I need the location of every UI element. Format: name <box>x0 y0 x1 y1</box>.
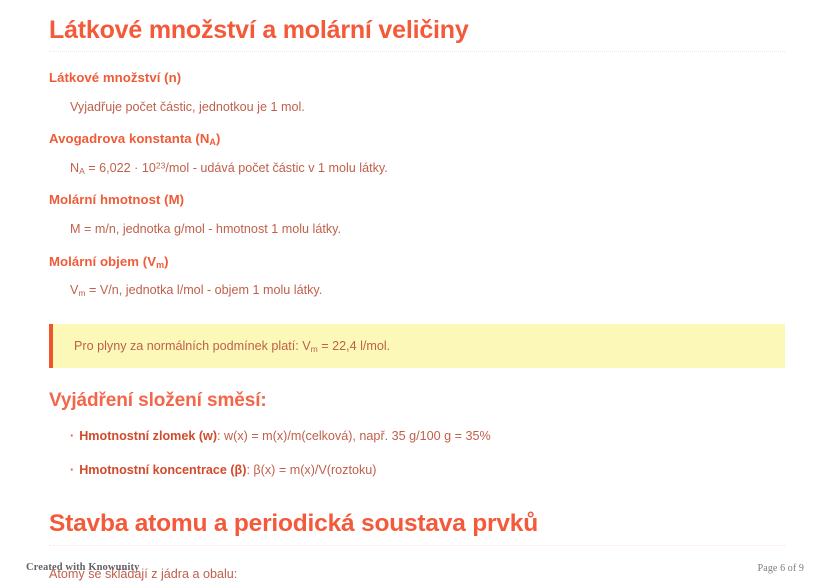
document-content: Látkové množství a molární veličiny Látk… <box>49 16 788 582</box>
spacer <box>49 208 788 221</box>
callout-text-pre: Pro plyny za normálních podmínek platí: … <box>74 339 311 353</box>
subsection-heading-avogadrova-konstanta: Avogadrova konstanta (NA) <box>49 131 788 147</box>
bullet-list: ·Hmotnostní zlomek (w): w(x) = m(x)/m(ce… <box>49 428 788 479</box>
list-item: ·Hmotnostní zlomek (w): w(x) = m(x)/m(ce… <box>49 428 788 444</box>
subsection-body-latkove-mnozstvi: Vyjadřuje počet částic, jednotkou je 1 m… <box>49 99 788 115</box>
subsection-heading-subscript: m <box>156 260 164 270</box>
callout-subscript: m <box>311 344 318 354</box>
subsection-heading-paren-close: ) <box>216 131 220 146</box>
subsection-heading-paren: (N <box>192 131 210 146</box>
spacer <box>49 238 788 254</box>
subheading-vyjadreni-slozeni: Vyjádření složení směsí: <box>49 390 788 412</box>
bullet-dot-icon: · <box>70 463 74 477</box>
subsection-body-molarni-objem: Vm = V/n, jednotka l/mol - objem 1 molu … <box>49 282 788 298</box>
bullet-label: Hmotnostní koncentrace (β) <box>79 463 246 477</box>
spacer <box>49 86 788 99</box>
footer-page-number: Page 6 of 9 <box>758 563 804 574</box>
subsection-heading-molarni-objem: Molární objem (Vm) <box>49 254 788 270</box>
subsection-heading-molarni-hmotnost: Molární hmotnost (M) <box>49 192 788 208</box>
spacer <box>49 52 788 70</box>
spacer <box>49 147 788 160</box>
bullet-text: : w(x) = m(x)/m(celková), např. 35 g/100… <box>217 429 491 443</box>
callout-box: Pro plyny za normálních podmínek platí: … <box>49 324 785 368</box>
subsection-heading-paren: (V <box>139 254 156 269</box>
subsection-heading-text: Molární hmotnost <box>49 192 160 207</box>
subsection-heading-paren-close: ) <box>177 70 181 85</box>
formula-tail: /mol - udává počet částic v 1 molu látky… <box>165 161 387 175</box>
subsection-heading-paren: (n <box>160 70 176 85</box>
spacer <box>49 176 788 192</box>
subsection-body-avogadrova-konstanta: NA = 6,022 · 1023/mol - udává počet část… <box>49 160 788 176</box>
spacer <box>49 412 788 428</box>
callout-text-post: = 22,4 l/mol. <box>318 339 390 353</box>
spacer <box>49 269 788 282</box>
bullet-text: : β(x) = m(x)/V(roztoku) <box>246 463 376 477</box>
section-title-latkove-mnozstvi: Látkové množství a molární veličiny <box>49 16 785 52</box>
formula-subscript: m <box>78 288 85 298</box>
spacer <box>49 478 788 510</box>
page-footer: Created with Knowunity Page 6 of 9 <box>0 555 828 586</box>
subsection-heading-paren: (M <box>160 192 179 207</box>
callout-text: Pro plyny za normálních podmínek platí: … <box>53 338 390 354</box>
subsection-heading-text: Látkové množství <box>49 70 160 85</box>
subsection-heading-text: Molární objem <box>49 254 139 269</box>
formula-symbol: N <box>70 161 79 175</box>
footer-credit: Created with Knowunity <box>26 562 139 573</box>
bullet-dot-icon: · <box>70 429 74 443</box>
formula-tail: = V/n, jednotka l/mol - objem 1 molu lát… <box>86 283 323 297</box>
list-item: ·Hmotnostní koncentrace (β): β(x) = m(x)… <box>49 462 788 478</box>
subsection-heading-paren-close: ) <box>180 192 184 207</box>
subsection-heading-text: Avogadrova konstanta <box>49 131 192 146</box>
document-page: Látkové množství a molární veličiny Látk… <box>0 0 828 586</box>
bullet-label: Hmotnostní zlomek (w) <box>79 429 217 443</box>
section-title-stavba-atomu: Stavba atomu a periodická soustava prvků <box>49 510 785 545</box>
subsection-heading-latkove-mnozstvi: Látkové množství (n) <box>49 70 788 86</box>
formula-value: = 6,022 · 10 <box>85 161 156 175</box>
subsection-heading-paren-close: ) <box>164 254 168 269</box>
spacer <box>49 115 788 131</box>
subsection-body-molarni-hmotnost: M = m/n, jednotka g/mol - hmotnost 1 mol… <box>49 221 788 237</box>
formula-superscript: 23 <box>156 160 166 170</box>
spacer <box>49 368 788 390</box>
